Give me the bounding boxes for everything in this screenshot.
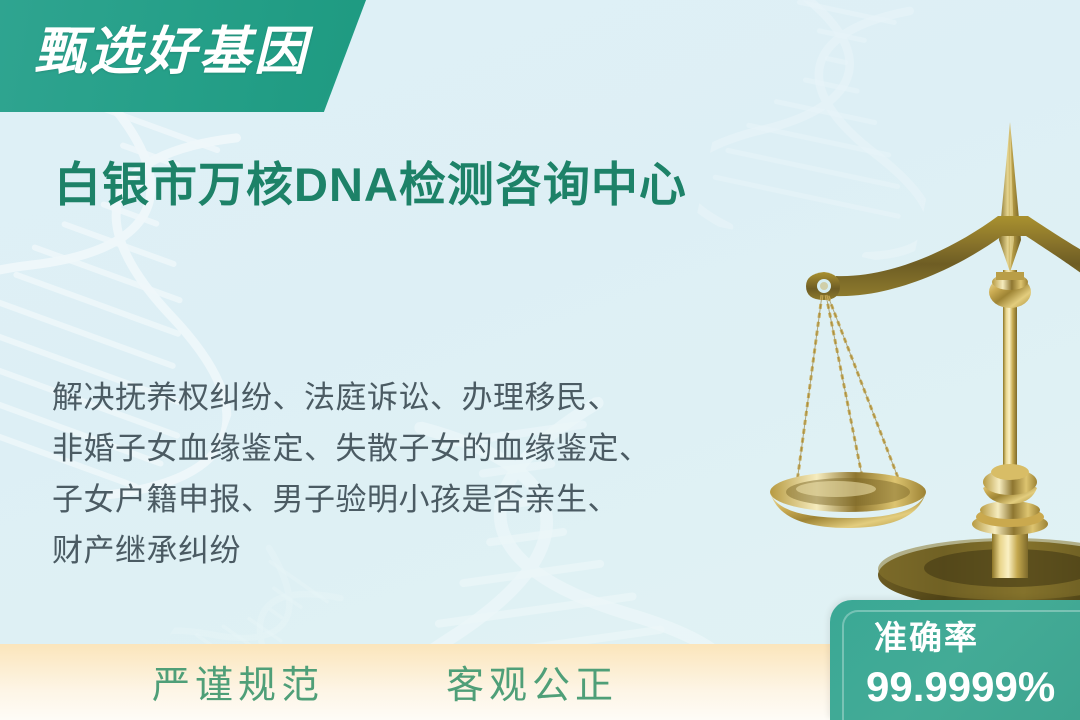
footer-slogan-left: 严谨规范 [152, 660, 324, 712]
scale-of-justice-illustration [740, 120, 1080, 620]
accuracy-badge-label: 准确率 [874, 618, 979, 658]
service-description-line-1: 解决抚养权纠纷、法庭诉讼、办理移民、 [52, 372, 752, 423]
brand-ribbon-text: 甄选好基因 [34, 22, 309, 84]
service-description: 解决抚养权纠纷、法庭诉讼、办理移民、 非婚子女血缘鉴定、失散子女的血缘鉴定、 子… [52, 372, 752, 576]
dna-helix-watermark-right [695, 0, 964, 268]
page-title: 白银市万核DNA检测咨询中心 [54, 156, 687, 214]
accuracy-badge-value: 99.9999% [866, 662, 1055, 712]
service-description-line-4: 财产继承纠纷 [52, 525, 752, 576]
service-description-line-3: 子女户籍申报、男子验明小孩是否亲生、 [52, 474, 752, 525]
accuracy-badge: 准确率 99.9999% [830, 600, 1080, 720]
promo-banner: 甄选好基因 白银市万核DNA检测咨询中心 解决抚养权纠纷、法庭诉讼、办理移民、 … [0, 0, 1080, 720]
service-description-line-2: 非婚子女血缘鉴定、失散子女的血缘鉴定、 [52, 423, 752, 474]
footer-slogan-right: 客观公正 [446, 660, 618, 712]
